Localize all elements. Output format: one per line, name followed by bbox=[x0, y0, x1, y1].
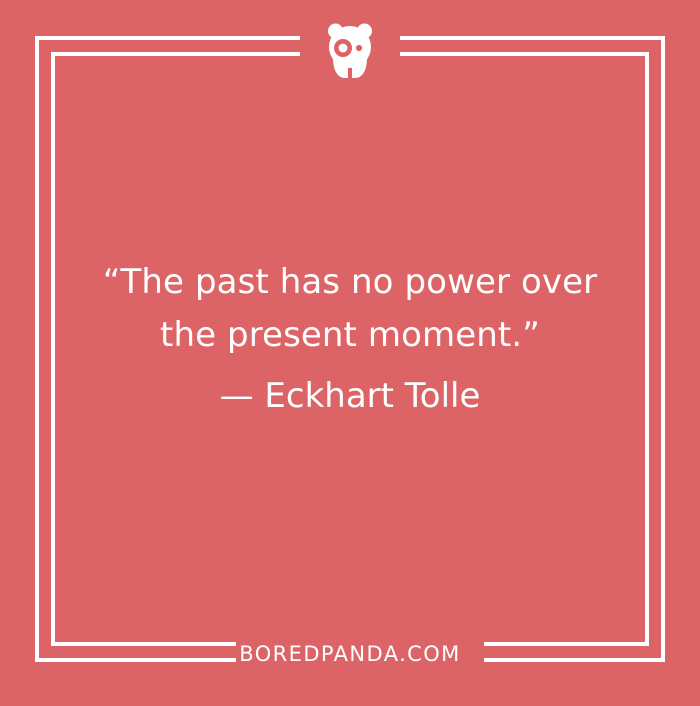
frame-line-top-inner-right bbox=[400, 52, 649, 56]
quote-block: “The past has no power over the present … bbox=[0, 256, 700, 423]
site-wordmark: BOREDPANDA.COM bbox=[0, 641, 700, 667]
quote-line-1: “The past has no power over bbox=[0, 256, 700, 309]
frame-line-top-outer-left bbox=[35, 36, 300, 40]
frame-line-top-outer-right bbox=[400, 36, 665, 40]
quote-line-2: the present moment.” bbox=[0, 309, 700, 362]
quote-author: — Eckhart Tolle bbox=[0, 362, 700, 423]
panda-logo-icon bbox=[323, 20, 377, 78]
frame-line-top-inner-left bbox=[51, 52, 300, 56]
quote-card: “The past has no power over the present … bbox=[0, 0, 700, 706]
